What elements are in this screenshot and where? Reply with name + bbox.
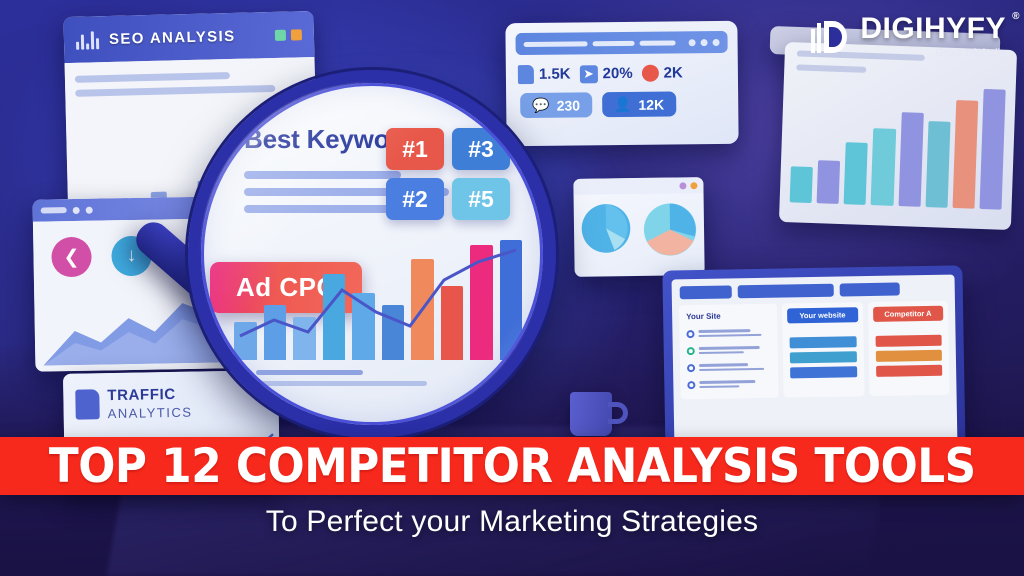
seo-card-swatches [275,29,302,41]
magnifying-glass: Best Keywords #1#3#2#5 Ad CPC [200,82,544,426]
bar [979,89,1005,210]
seo-card-title: SEO ANALYSIS [109,27,236,47]
banner-title: TOP 12 COMPETITOR ANALYSIS TOOLS [49,439,976,494]
stat-visitors: 👤 12K [602,91,676,117]
arrow-right-icon: ➤ [579,65,597,83]
window-dot [73,206,80,213]
banner-canvas: SEO ANALYSIS ❮ ↓ [0,0,1024,576]
title-banner: TOP 12 COMPETITOR ANALYSIS TOOLS [0,437,1024,495]
bar [790,166,813,203]
comparison-column-competitor: Competitor A [867,301,949,396]
trademark-symbol: ® [1012,12,1020,22]
comparison-table: Your Site Your website Competitor A [672,295,957,400]
stats-card-header [515,31,727,55]
stat-visitors-value: 12K [638,96,664,112]
stats-row-primary: 1.5K ➤ 20% 2K [506,53,738,84]
laptop-screen: Your Site Your website Competitor A [672,275,958,451]
pie-chart-card [573,177,704,277]
banner-subtitle: To Perfect your Marketing Strategies [0,505,1024,539]
pie-chart-1 [579,201,634,256]
pie-card-header [573,177,703,195]
list-item [684,324,772,343]
logo-text: DIGIHYFY ® [860,14,1006,44]
url-bar [41,207,67,213]
stat-errors: 2K [642,64,683,81]
window-dot [86,206,93,213]
comparison-column-your-website: Your website [782,302,864,397]
comparison-column-site: Your Site [679,304,779,400]
column-header-competitor: Competitor A [873,306,944,322]
column-header-your-website: Your website [787,307,858,323]
stat-pages-value: 1.5K [539,66,571,83]
pie-charts [574,193,705,260]
stat-errors-value: 2K [664,64,683,81]
bar [898,113,923,207]
laptop: Your Site Your website Competitor A [662,265,965,460]
user-icon: 👤 [614,96,632,113]
arrow-left-icon: ❮ [51,237,92,278]
pie-chart-2 [641,200,700,259]
traffic-title-line1: TRAFFIC [107,386,176,404]
bar [844,142,868,205]
list-item [685,358,773,377]
bar [871,128,896,206]
list-item [685,375,773,394]
traffic-title-line2: ANALYTICS [108,405,193,421]
column-header-your-site: Your Site [684,309,772,326]
alert-dot-icon [642,65,659,82]
bar [817,160,841,204]
stat-comments-value: 230 [557,97,581,113]
document-icon [75,389,100,419]
bar [952,100,978,209]
list-item [685,341,773,360]
bar [925,121,950,208]
bar-chart-icon [76,29,99,50]
stat-growth: ➤ 20% [579,64,632,83]
bar-chart [790,82,1006,209]
coffee-mug [570,392,612,436]
magnifier-rim [188,70,556,438]
stat-growth-value: 20% [602,65,632,82]
digihyfy-logo-icon [809,17,851,57]
seo-card-header: SEO ANALYSIS [63,11,314,63]
laptop-lid: Your Site Your website Competitor A [662,265,965,460]
logo-tagline: Grow Digitally [860,47,1006,59]
bar-chart-card [779,42,1017,230]
logo-name: DIGIHYFY [860,12,1006,45]
logo[interactable]: DIGIHYFY ® Grow Digitally [809,14,1006,59]
